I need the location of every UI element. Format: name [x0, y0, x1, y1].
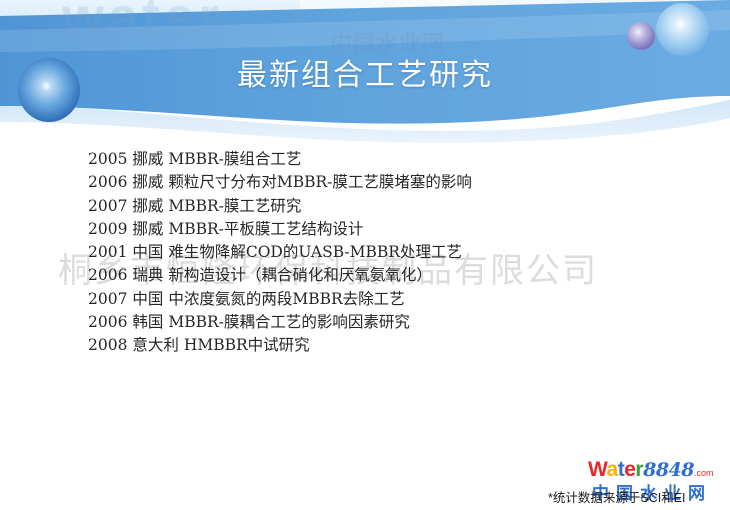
- slide-header: water 中国水业网 最新组合工艺研究: [0, 0, 730, 145]
- list-item-year: 2007: [88, 290, 127, 308]
- list-item-year: 2005: [88, 150, 127, 168]
- list-item-country: 中国: [132, 290, 163, 308]
- list-item-country: 瑞典: [132, 266, 163, 284]
- list-item-year: 2001: [88, 243, 127, 261]
- logo-letter-a: a: [607, 458, 618, 481]
- list-item: 2005 挪威 MBBR-膜组合工艺: [88, 148, 688, 171]
- list-item: 2006 韩国 MBBR-膜耦合工艺的影响因素研究: [88, 311, 688, 334]
- research-list: 2005 挪威 MBBR-膜组合工艺 2006 挪威 颗粒尺寸分布对MBBR-膜…: [88, 148, 688, 358]
- logo-letter-w: W: [588, 458, 607, 481]
- list-item-country: 挪威: [132, 173, 163, 191]
- list-item-desc: 新构造设计（耦合硝化和厌氧氨氧化）: [168, 266, 432, 284]
- light-blue-sphere-icon: [656, 3, 709, 56]
- list-item-desc: MBBR-膜耦合工艺的影响因素研究: [168, 313, 410, 331]
- logo-letter-r: r: [635, 458, 643, 481]
- list-item: 2007 挪威 MBBR-膜工艺研究: [88, 195, 688, 218]
- logo-letter-e: e: [624, 458, 635, 481]
- list-item-year: 2006: [88, 173, 127, 191]
- list-item-country: 韩国: [132, 313, 163, 331]
- list-item-desc: 颗粒尺寸分布对MBBR-膜工艺膜堵塞的影响: [168, 173, 472, 191]
- list-item-year: 2007: [88, 197, 127, 215]
- list-item-desc: HMBBR中试研究: [184, 336, 310, 354]
- list-item-country: 挪威: [132, 150, 163, 168]
- list-item: 2009 挪威 MBBR-平板膜工艺结构设计: [88, 218, 688, 241]
- list-item-year: 2009: [88, 220, 127, 238]
- page-title: 最新组合工艺研究: [0, 50, 730, 94]
- slide-canvas: water 中国水业网 最新组合工艺研究 桐乡市恒隆环保科技制品有限公司 200…: [0, 0, 730, 510]
- logo-wordmark: Water: [588, 458, 643, 481]
- list-item-desc: MBBR-平板膜工艺结构设计: [168, 220, 363, 238]
- source-footnote: *统计数据来源于SCI和EI: [548, 487, 686, 506]
- logo-number: 8848: [643, 459, 694, 481]
- list-item-year: 2006: [88, 266, 127, 284]
- list-item-country: 挪威: [132, 197, 163, 215]
- list-item: 2008 意大利 HMBBR中试研究: [88, 334, 688, 357]
- purple-sphere-icon: [627, 22, 655, 50]
- list-item: 2006 瑞典 新构造设计（耦合硝化和厌氧氨氧化）: [88, 264, 688, 287]
- list-item-desc: 中浓度氨氮的两段MBBR去除工艺: [168, 290, 404, 308]
- list-item-year: 2008: [88, 336, 127, 354]
- list-item-desc: 难生物降解COD的UASB-MBBR处理工艺: [168, 243, 462, 261]
- list-item-country: 意大利: [132, 336, 179, 354]
- list-item-year: 2006: [88, 313, 127, 331]
- list-item-desc: MBBR-膜组合工艺: [168, 150, 301, 168]
- list-item-desc: MBBR-膜工艺研究: [168, 197, 301, 215]
- list-item-country: 挪威: [132, 220, 163, 238]
- water8848-logo[interactable]: Water8848.com: [588, 459, 714, 481]
- list-item: 2006 挪威 颗粒尺寸分布对MBBR-膜工艺膜堵塞的影响: [88, 171, 688, 194]
- list-item: 2007 中国 中浓度氨氮的两段MBBR去除工艺: [88, 288, 688, 311]
- list-item-country: 中国: [132, 243, 163, 261]
- logo-domain-suffix: .com: [694, 468, 714, 478]
- list-item: 2001 中国 难生物降解COD的UASB-MBBR处理工艺: [88, 241, 688, 264]
